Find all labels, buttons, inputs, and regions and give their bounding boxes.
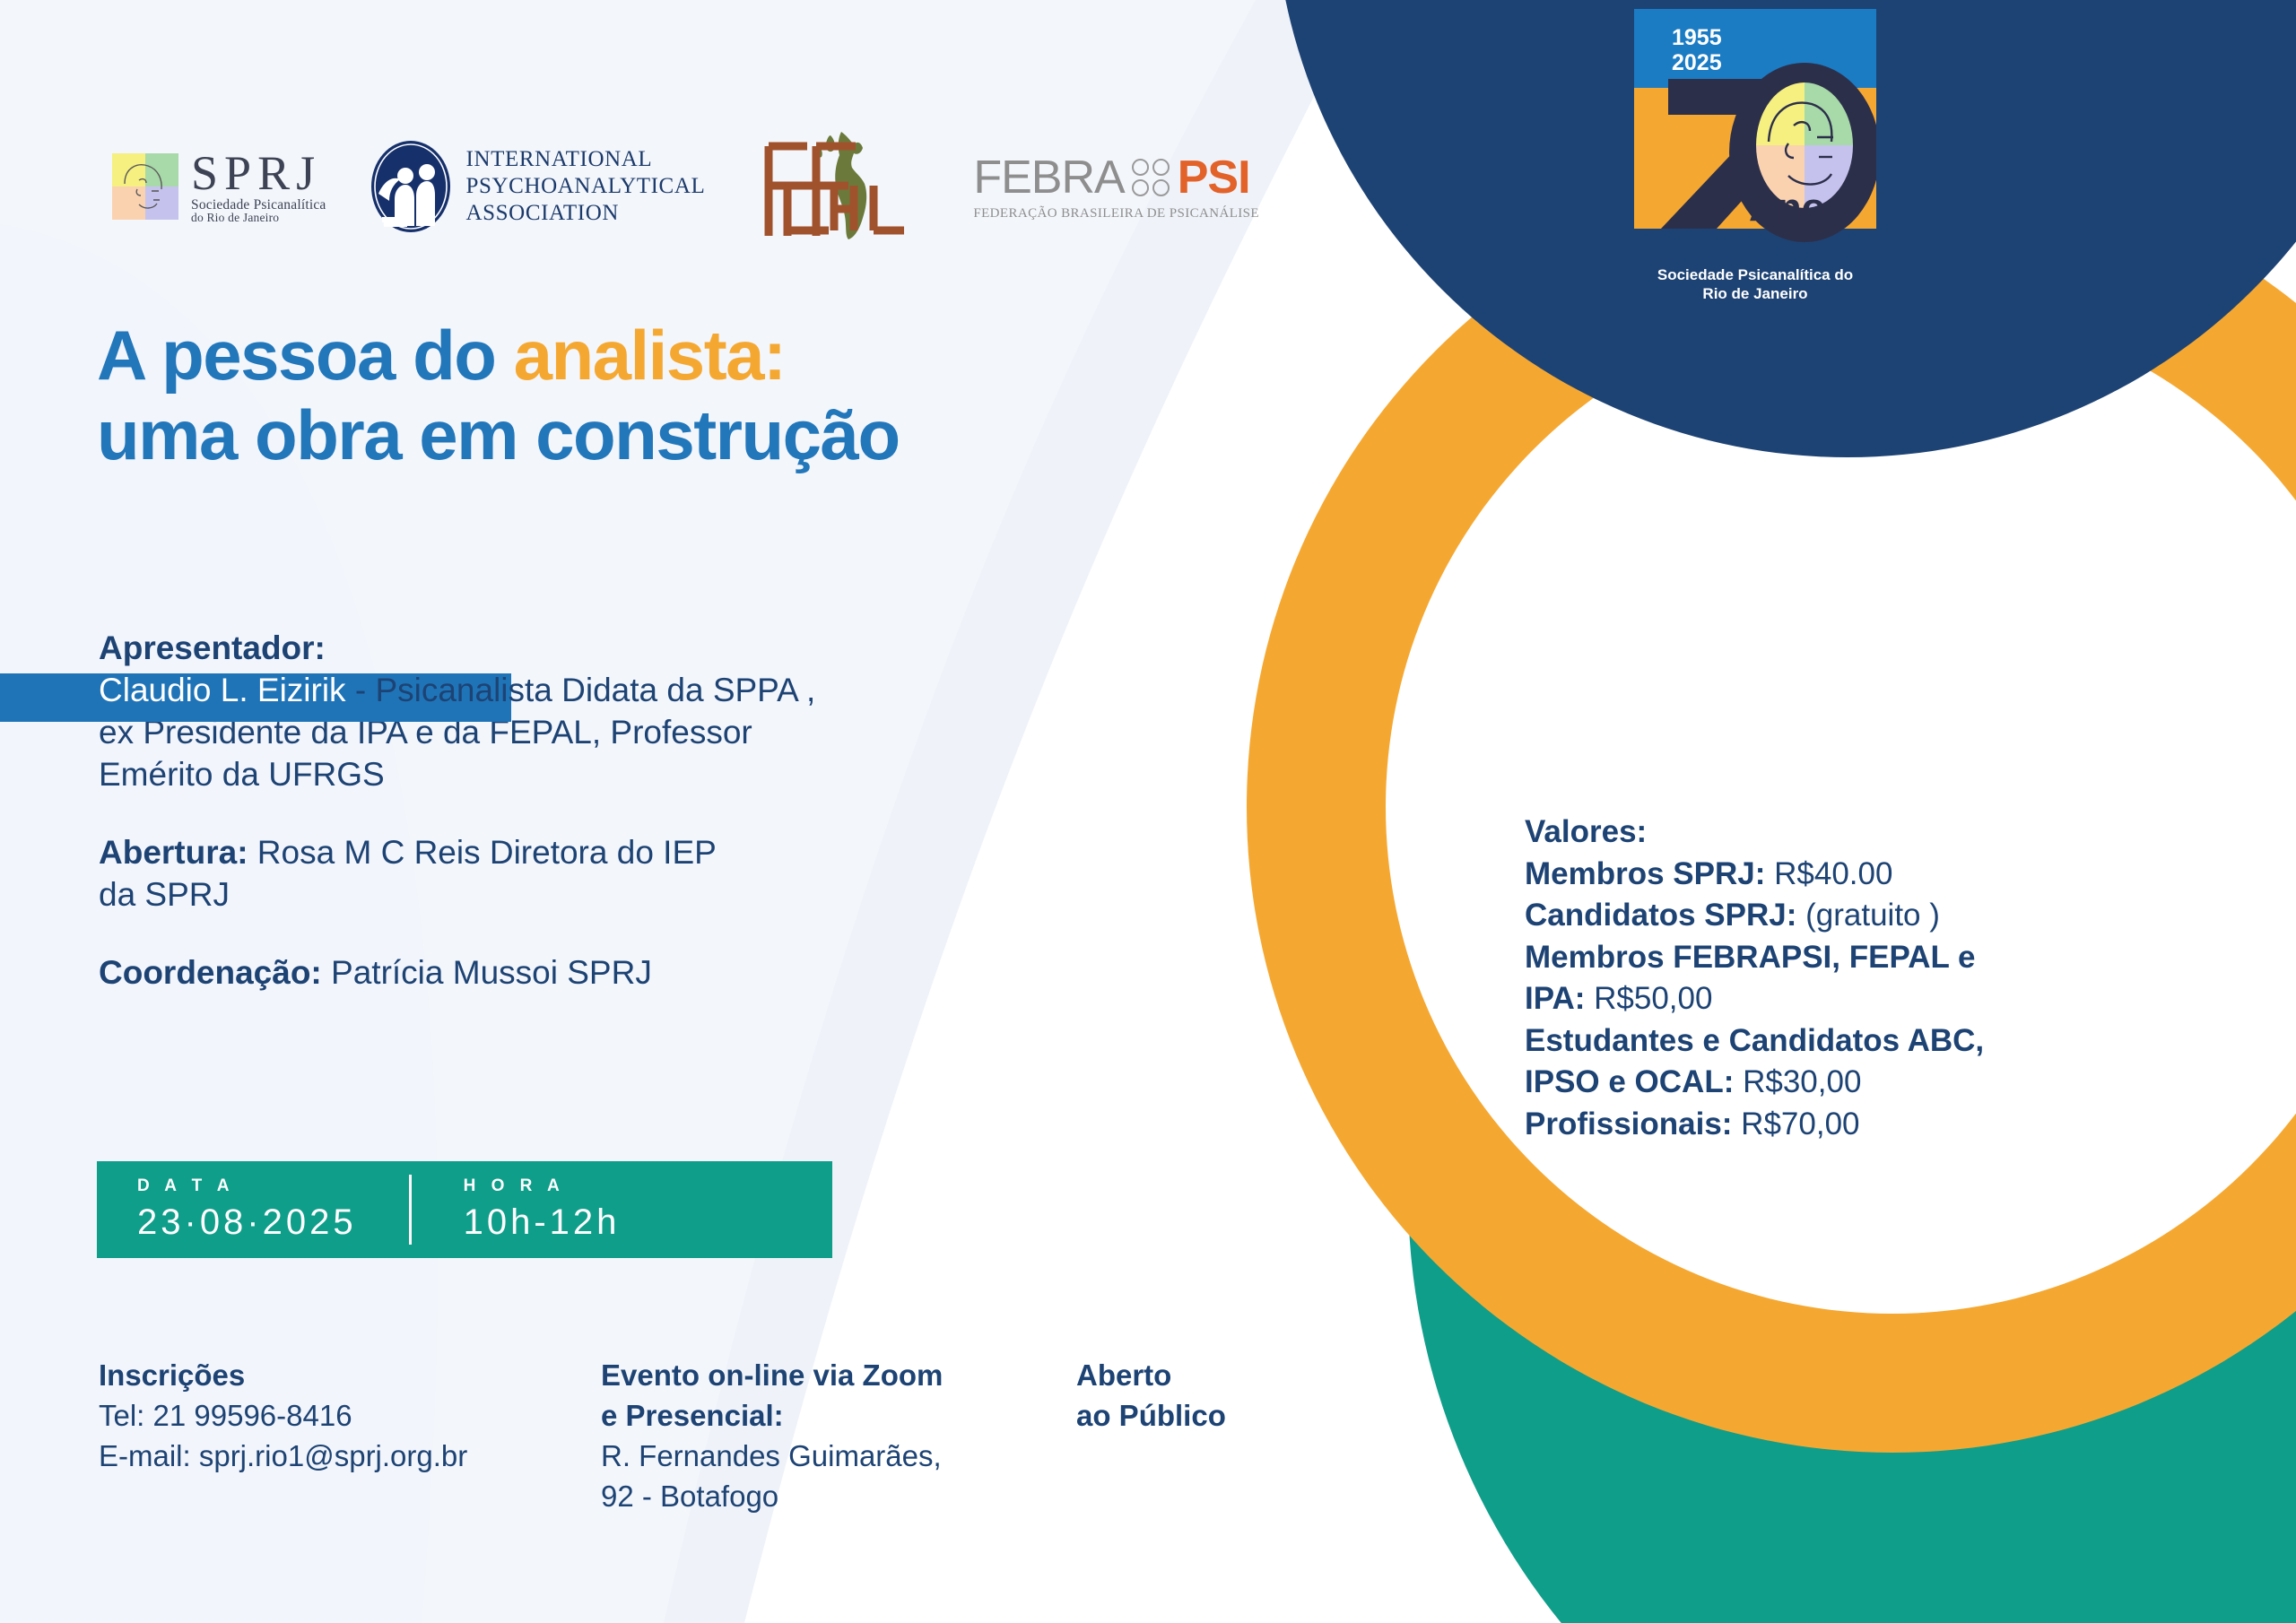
presenter-label: Apresentador: xyxy=(99,628,1157,670)
sprj-wordmark: SPRJ xyxy=(191,149,326,197)
title-line-2: uma obra em construção xyxy=(97,395,1299,475)
venue-address-1: R. Fernandes Guimarães, xyxy=(601,1436,1076,1477)
ipa-line-3: ASSOCIATION xyxy=(466,200,706,227)
badge-year-from: 1955 xyxy=(1672,25,1722,50)
badge-year-to: 2025 xyxy=(1672,50,1722,75)
pricing-row-label: Estudantes e Candidatos ABC, xyxy=(1525,1023,1984,1058)
venue-title-1: Evento on-line via Zoom xyxy=(601,1356,1076,1396)
pricing-row: Candidatos SPRJ: (gratuito ) xyxy=(1525,895,2170,937)
title-part-accent: analista: xyxy=(514,316,786,395)
badge-subtitle: Sociedade Psicanalítica do Rio de Janeir… xyxy=(1634,266,1876,303)
ipa-line-2: PSYCHOANALYTICAL xyxy=(466,173,706,200)
febrapsi-logo: FEBRA PSI FEDERAÇÃO BRASILEIRA DE PSICAN… xyxy=(973,151,1259,221)
partner-logos: SPRJ Sociedade Psicanalítica do Rio de J… xyxy=(112,135,1259,238)
pricing-row: Profissionais: R$70,00 xyxy=(1525,1104,2170,1146)
title-line-1: A pessoa do analista: xyxy=(97,316,1299,395)
pricing-row: Membros SPRJ: R$40.00 xyxy=(1525,854,2170,896)
venue-title-2: e Presencial: xyxy=(601,1396,1076,1436)
page-title: A pessoa do analista: uma obra em constr… xyxy=(97,316,1299,475)
coordination-label: Coordenação: xyxy=(99,954,322,991)
audience-title-1: Aberto xyxy=(1076,1356,1345,1396)
presenter-name-row: Claudio L. Eizirik - Psicanalista Didata… xyxy=(99,670,1157,712)
audience-column: Aberto ao Público xyxy=(1076,1356,1345,1436)
pricing-row-label: IPSO e OCAL: xyxy=(1525,1064,1734,1099)
badge-subtitle-line1: Sociedade Psicanalítica do xyxy=(1634,266,1876,285)
fepal-logo xyxy=(761,130,926,242)
pricing-heading: Valores: xyxy=(1525,811,2170,854)
hour-value: 10h-12h xyxy=(464,1202,621,1243)
febra-wordmark: FEBRA xyxy=(973,151,1124,204)
hour-cell: H O R A 10h-12h xyxy=(412,1176,621,1243)
event-poster: SPRJ Sociedade Psicanalítica do Rio de J… xyxy=(0,0,2296,1623)
coordination-value: Patrícia Mussoi SPRJ xyxy=(322,954,652,991)
fepal-mark-icon xyxy=(761,130,926,242)
ipa-logo: INTERNATIONAL PSYCHOANALYTICAL ASSOCIATI… xyxy=(370,140,706,233)
pricing-row-value: R$30,00 xyxy=(1734,1064,1861,1099)
psi-wordmark: PSI xyxy=(1178,151,1250,204)
opening-value-1: Rosa M C Reis Diretora do IEP xyxy=(248,834,717,871)
ipa-line-1: INTERNATIONAL xyxy=(466,146,706,173)
sprj-subtitle-line1: Sociedade Psicanalítica xyxy=(191,198,326,213)
febrapsi-subtitle: FEDERAÇÃO BRASILEIRA DE PSICANÁLISE xyxy=(973,206,1259,221)
pricing-row-value: R$50,00 xyxy=(1585,981,1712,1016)
opening-label: Abertura: xyxy=(99,834,248,871)
badge-anos-label: Anos xyxy=(1749,186,1848,230)
pricing-row: Membros FEBRAPSI, FEPAL e xyxy=(1525,937,2170,979)
pricing-row-label: Membros FEBRAPSI, FEPAL e xyxy=(1525,940,1975,975)
date-value: 23·08·2025 xyxy=(137,1202,357,1243)
venue-address-2: 92 - Botafogo xyxy=(601,1477,1076,1517)
title-part-plain: A pessoa do xyxy=(97,316,514,395)
venue-column: Evento on-line via Zoom e Presencial: R.… xyxy=(601,1356,1076,1517)
pricing-row-label: Profissionais: xyxy=(1525,1107,1732,1141)
opening-value-2: da SPRJ xyxy=(99,874,1157,916)
registration-phone: Tel: 21 99596-8416 xyxy=(99,1396,601,1436)
coordination-row: Coordenação: Patrícia Mussoi SPRJ xyxy=(99,952,1157,994)
presenter-name: Claudio L. Eizirik xyxy=(99,672,346,708)
pricing-row-label: IPA: xyxy=(1525,981,1585,1016)
opening-row: Abertura: Rosa M C Reis Diretora do IEP xyxy=(99,832,1157,874)
date-label: D A T A xyxy=(137,1176,357,1196)
sprj-subtitle-line2: do Rio de Janeiro xyxy=(191,212,326,224)
registration-title: Inscrições xyxy=(99,1356,601,1396)
presenter-detail-3: Emérito da UFRGS xyxy=(99,754,1157,796)
pricing-row: IPA: R$50,00 xyxy=(1525,978,2170,1020)
pricing-row: IPSO e OCAL: R$30,00 xyxy=(1525,1062,2170,1104)
ipa-seal-icon xyxy=(370,140,452,233)
seventy-years-icon: 1955 2025 Anos xyxy=(1634,9,1876,256)
febra-circles-icon xyxy=(1132,159,1170,197)
event-details: Apresentador: Claudio L. Eizirik - Psica… xyxy=(99,628,1157,994)
footer-info: Inscrições Tel: 21 99596-8416 E-mail: sp… xyxy=(99,1356,1345,1517)
sprj-face-mark xyxy=(112,153,178,220)
registration-email: E-mail: sprj.rio1@sprj.org.br xyxy=(99,1436,601,1477)
date-time-banner: D A T A 23·08·2025 H O R A 10h-12h xyxy=(97,1161,832,1258)
pricing-row-label: Membros SPRJ: xyxy=(1525,856,1765,891)
sprj-logo: SPRJ Sociedade Psicanalítica do Rio de J… xyxy=(112,149,326,224)
pricing-row-value: R$70,00 xyxy=(1732,1107,1859,1141)
hour-label: H O R A xyxy=(464,1176,621,1196)
pricing-rows: Membros SPRJ: R$40.00Candidatos SPRJ: (g… xyxy=(1525,854,2170,1146)
pricing-row-label: Candidatos SPRJ: xyxy=(1525,898,1796,933)
pricing-row-value: R$40.00 xyxy=(1765,856,1892,891)
pricing-list: Valores: Membros SPRJ: R$40.00Candidatos… xyxy=(1525,811,2170,1145)
anniversary-badge: 1955 2025 Anos Sociedade Psicanalítica d… xyxy=(1634,9,1876,303)
registration-column: Inscrições Tel: 21 99596-8416 E-mail: sp… xyxy=(99,1356,601,1477)
pricing-row: Estudantes e Candidatos ABC, xyxy=(1525,1020,2170,1063)
badge-subtitle-line2: Rio de Janeiro xyxy=(1634,285,1876,304)
audience-title-2: ao Público xyxy=(1076,1396,1345,1436)
pricing-row-value: (gratuito ) xyxy=(1796,898,1940,933)
presenter-detail-1: - Psicanalista Didata da SPPA , xyxy=(346,672,816,708)
date-cell: D A T A 23·08·2025 xyxy=(97,1176,357,1243)
